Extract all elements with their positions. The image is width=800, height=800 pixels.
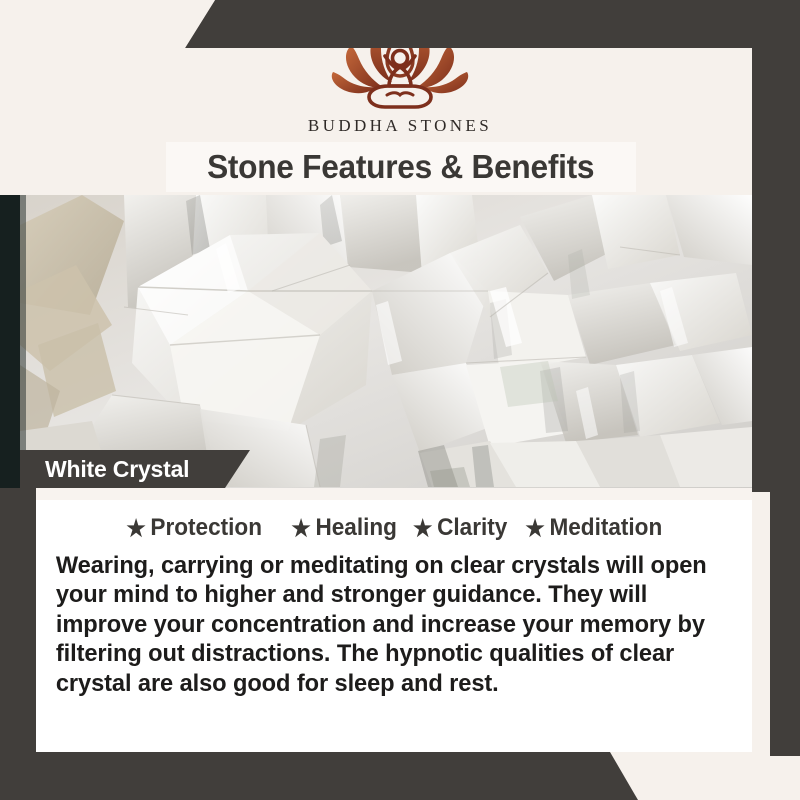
- benefits-row: ★ Protection ★ Healing ★ Clarity ★ Medit…: [52, 514, 736, 542]
- benefit-label: Protection: [150, 514, 262, 542]
- benefit-item-healing: ★ Healing: [291, 514, 397, 542]
- stone-name-label: White Crystal: [20, 456, 189, 483]
- frame-bottom-accent: [0, 752, 800, 800]
- page-title: Stone Features & Benefits: [207, 148, 594, 186]
- poster-root: BUDDHA STONES Stone Features & Benefits: [0, 0, 800, 800]
- benefit-item-meditation: ★ Meditation: [525, 514, 662, 542]
- star-icon: ★: [126, 517, 145, 540]
- star-icon: ★: [413, 517, 432, 540]
- benefit-label: Clarity: [437, 514, 507, 542]
- photo-left-edge-shadow: [0, 195, 22, 488]
- content-panel: ★ Protection ★ Healing ★ Clarity ★ Medit…: [36, 500, 752, 752]
- star-icon: ★: [525, 517, 544, 540]
- frame-left-accent: [0, 488, 36, 756]
- brand-name: BUDDHA STONES: [308, 116, 492, 136]
- description-text: Wearing, carrying or meditating on clear…: [52, 551, 732, 698]
- benefit-item-protection: ★ Protection: [126, 514, 262, 542]
- title-band: Stone Features & Benefits: [166, 142, 636, 192]
- crystal-photo-artwork: [20, 195, 752, 488]
- frame-right-thin-accent: [752, 488, 800, 756]
- benefit-label: Healing: [315, 514, 396, 542]
- frame-right-accent: [752, 0, 800, 492]
- star-icon: ★: [291, 517, 310, 540]
- stone-name-banner: White Crystal: [20, 450, 250, 488]
- benefit-item-clarity: ★ Clarity: [413, 514, 507, 542]
- crystal-photo: [20, 195, 752, 488]
- benefit-label: Meditation: [549, 514, 662, 542]
